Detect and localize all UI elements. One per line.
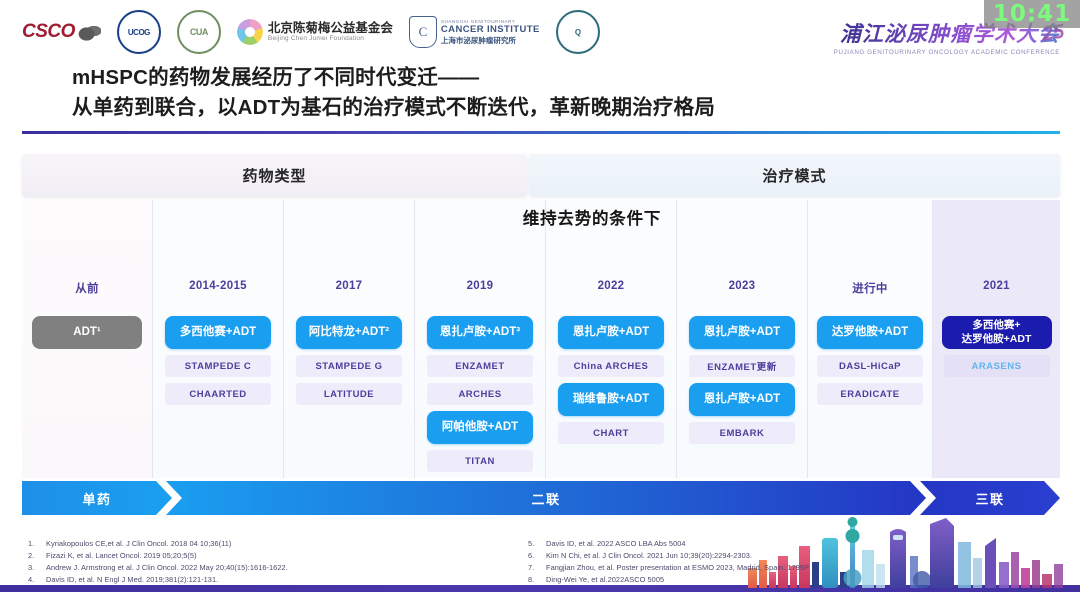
column-body: 多西他赛+达罗他胺+ADTARASENS — [933, 316, 1060, 377]
section-header-row: 药物类型 治疗模式 — [22, 154, 1060, 196]
column-body: 恩扎卢胺+ADTENZAMET更新恩扎卢胺+ADTEMBARK — [677, 316, 807, 444]
column-body: 阿比特龙+ADT²STAMPEDE GLATITUDE — [284, 316, 414, 405]
title-divider — [22, 131, 1060, 134]
timeline-column-3: 2019恩扎卢胺+ADT³ENZAMETARCHES阿帕他胺+ADTTITAN — [415, 200, 546, 478]
arrow-doublet: 二联 — [166, 481, 926, 515]
trial-chip[interactable]: CHART — [558, 422, 664, 444]
timeline-column-1: 2014-2015多西他赛+ADTSTAMPEDE CCHAARTED — [153, 200, 284, 478]
column-year-label: 进行中 — [852, 280, 887, 296]
footnote-number: 6. — [528, 550, 546, 562]
timeline-grid: 从前ADT¹2014-2015多西他赛+ADTSTAMPEDE CCHAARTE… — [22, 200, 1060, 478]
page-title-line2: 从单药到联合，以ADT为基石的治疗模式不断迭代，革新晚期治疗格局 — [72, 93, 715, 123]
column-body: 达罗他胺+ADTDASL-HiCaPERADICATE — [808, 316, 932, 405]
footnote-number: 3. — [28, 562, 46, 574]
footnotes: 1.Kyriakopoulos CE,et al. J Clin Oncol. … — [28, 538, 1028, 586]
footnote-number: 1. — [28, 538, 46, 550]
footnote-item: 3.Andrew J. Armstrong et al. J Clin Onco… — [28, 562, 504, 574]
column-year-label: 从前 — [75, 280, 99, 296]
footnote-text: Ding-Wei Ye, et al.2022ASCO 5005 — [546, 574, 664, 586]
page-title: mHSPC的药物发展经历了不同时代变迁—— 从单药到联合，以ADT为基石的治疗模… — [72, 63, 715, 122]
trial-chip[interactable]: STAMPEDE C — [165, 355, 271, 377]
footnote-text: Fangjian Zhou, et al. Poster presentatio… — [546, 562, 809, 574]
trial-chip[interactable]: STAMPEDE G — [296, 355, 402, 377]
footnote-number: 8. — [528, 574, 546, 586]
csco-mark-icon — [77, 22, 101, 42]
regimen-pill[interactable]: 阿比特龙+ADT² — [296, 316, 402, 349]
column-year-label: 2017 — [336, 280, 363, 292]
page-title-line1: mHSPC的药物发展经历了不同时代变迁—— — [72, 63, 715, 93]
regimen-pill[interactable]: 恩扎卢胺+ADT³ — [427, 316, 533, 349]
ucog-logo-text: UCOG — [128, 28, 150, 37]
footnote-text: Kim N Chi, et al. J Clin Oncol. 2021 Jun… — [546, 550, 752, 562]
sgci-text: SHANGHAI GENITOURINARY CANCER INSTITUTE … — [441, 19, 540, 46]
ucog-logo: UCOG — [117, 10, 161, 54]
footnote-text: Kyriakopoulos CE,et al. J Clin Oncol. 20… — [46, 538, 231, 550]
regimen-pill[interactable]: 恩扎卢胺+ADT — [558, 316, 664, 349]
trial-chip[interactable]: ERADICATE — [817, 383, 923, 405]
footnote-text: Davis ID, et al. 2022 ASCO LBA Abs 5004 — [546, 538, 686, 550]
regimen-pill[interactable]: 阿帕他胺+ADT — [427, 411, 533, 444]
sgci-line3: 上海市泌尿肿瘤研究所 — [441, 35, 540, 46]
column-body: 恩扎卢胺+ADTChina ARCHES瑞维鲁胺+ADTCHART — [546, 316, 676, 444]
footnote-item: 2.Fizazi K, et al. Lancet Oncol. 2019 05… — [28, 550, 504, 562]
trial-chip[interactable]: ENZAMET — [427, 355, 533, 377]
footnote-item: 6.Kim N Chi, et al. J Clin Oncol. 2021 J… — [528, 550, 1004, 562]
trial-chip[interactable]: DASL-HiCaP — [817, 355, 923, 377]
regimen-pill[interactable]: 多西他赛+达罗他胺+ADT — [942, 316, 1052, 349]
timeline-column-7: 2021多西他赛+达罗他胺+ADTARASENS — [933, 200, 1060, 478]
slide-root: CSCO UCOG CUA 北京陈菊梅公益基金会 Beijing Chen Ju… — [0, 0, 1080, 595]
organizer-logo-row: CSCO UCOG CUA 北京陈菊梅公益基金会 Beijing Chen Ju… — [22, 10, 600, 54]
flower-icon — [237, 19, 263, 45]
column-body: 恩扎卢胺+ADT³ENZAMETARCHES阿帕他胺+ADTTITAN — [415, 316, 545, 472]
section-header-drug-type: 药物类型 — [22, 154, 527, 196]
footnote-item: 5.Davis ID, et al. 2022 ASCO LBA Abs 500… — [528, 538, 1004, 550]
teal-ring-logo-text: Q — [575, 28, 581, 37]
timeline-column-5: 2023恩扎卢胺+ADTENZAMET更新恩扎卢胺+ADTEMBARK — [677, 200, 808, 478]
footnote-number: 2. — [28, 550, 46, 562]
regimen-pill[interactable]: ADT¹ — [32, 316, 142, 349]
footnote-text: Fizazi K, et al. Lancet Oncol. 2019 05;2… — [46, 550, 197, 562]
column-body: 多西他赛+ADTSTAMPEDE CCHAARTED — [153, 316, 283, 405]
section-header-treatment-mode: 治疗模式 — [529, 154, 1060, 196]
column-year-label: 2022 — [598, 280, 625, 292]
trial-chip[interactable]: ARCHES — [427, 383, 533, 405]
green-ring-logo-text: CUA — [190, 27, 208, 37]
trial-chip[interactable]: EMBARK — [689, 422, 795, 444]
timeline-column-2: 2017阿比特龙+ADT²STAMPEDE GLATITUDE — [284, 200, 415, 478]
trial-chip[interactable]: China ARCHES — [558, 355, 664, 377]
footnote-item: 4.Davis ID, et al. N Engl J Med. 2019;38… — [28, 574, 504, 586]
shanghai-gu-cancer-institute-logo: C SHANGHAI GENITOURINARY CANCER INSTITUT… — [409, 10, 540, 54]
trial-chip[interactable]: ARASENS — [944, 355, 1050, 377]
footnote-number: 7. — [528, 562, 546, 574]
column-year-label: 2014-2015 — [189, 280, 247, 292]
trial-chip[interactable]: CHAARTED — [165, 383, 271, 405]
arrow-triplet: 三联 — [920, 481, 1060, 515]
arrow-mono: 单药 — [22, 481, 172, 515]
beijing-chen-jumei-foundation-logo: 北京陈菊梅公益基金会 Beijing Chen Jumei Foundation — [237, 10, 393, 54]
column-year-label: 2023 — [729, 280, 756, 292]
clock-overlay: 10:41 — [984, 0, 1080, 28]
csco-logo: CSCO — [22, 10, 101, 54]
footnotes-right-column: 5.Davis ID, et al. 2022 ASCO LBA Abs 500… — [528, 538, 1004, 586]
footnote-text: Davis ID, et al. N Engl J Med. 2019;381(… — [46, 574, 218, 586]
foundation-text: 北京陈菊梅公益基金会 Beijing Chen Jumei Foundation — [268, 21, 393, 43]
foundation-name-cn: 北京陈菊梅公益基金会 — [268, 21, 393, 35]
shield-icon: C — [409, 16, 437, 48]
trial-chip[interactable]: TITAN — [427, 450, 533, 472]
teal-ring-logo: Q — [556, 10, 600, 54]
column-body: ADT¹ — [22, 316, 152, 349]
therapy-progression-bar: 单药 二联 三联 — [22, 481, 1060, 515]
footnote-number: 5. — [528, 538, 546, 550]
footnotes-left-column: 1.Kyriakopoulos CE,et al. J Clin Oncol. … — [28, 538, 504, 586]
footnote-item: 8.Ding-Wei Ye, et al.2022ASCO 5005 — [528, 574, 1004, 586]
trial-chip[interactable]: ENZAMET更新 — [689, 355, 795, 377]
footnote-text: Andrew J. Armstrong et al. J Clin Oncol.… — [46, 562, 288, 574]
footnote-item: 7.Fangjian Zhou, et al. Poster presentat… — [528, 562, 1004, 574]
column-year-label: 2019 — [467, 280, 494, 292]
regimen-pill[interactable]: 瑞维鲁胺+ADT — [558, 383, 664, 416]
footnote-number: 4. — [28, 574, 46, 586]
footnote-item: 1.Kyriakopoulos CE,et al. J Clin Oncol. … — [28, 538, 504, 550]
maintain-castration-label: 维持去势的条件下 — [152, 205, 1032, 229]
column-year-label: 2021 — [983, 280, 1010, 292]
timeline-column-4: 2022恩扎卢胺+ADTChina ARCHES瑞维鲁胺+ADTCHART — [546, 200, 677, 478]
logo-bar: CSCO UCOG CUA 北京陈菊梅公益基金会 Beijing Chen Ju… — [0, 0, 1080, 60]
foundation-name-en: Beijing Chen Jumei Foundation — [268, 35, 393, 43]
sgci-line2: CANCER INSTITUTE — [441, 24, 540, 35]
trial-chip[interactable]: LATITUDE — [296, 383, 402, 405]
regimen-pill[interactable]: 达罗他胺+ADT — [817, 316, 923, 349]
timeline-column-6: 进行中达罗他胺+ADTDASL-HiCaPERADICATE — [808, 200, 933, 478]
conference-name-en: PUJIANG GENITOURINARY ONCOLOGY ACADEMIC … — [834, 49, 1060, 56]
regimen-pill[interactable]: 恩扎卢胺+ADT — [689, 316, 795, 349]
regimen-pill[interactable]: 多西他赛+ADT — [165, 316, 271, 349]
green-ring-logo: CUA — [177, 10, 221, 54]
csco-logo-text: CSCO — [22, 21, 75, 43]
regimen-pill[interactable]: 恩扎卢胺+ADT — [689, 383, 795, 416]
timeline-column-0: 从前ADT¹ — [22, 200, 153, 478]
